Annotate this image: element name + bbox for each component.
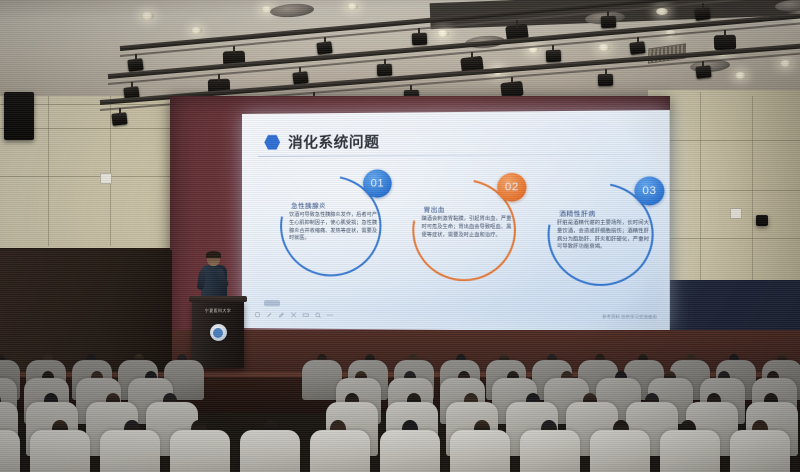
wall-panel-seam-7 bbox=[650, 190, 800, 191]
slide-item-heading-02: 胃出血 bbox=[424, 204, 445, 214]
spotlight-yoke-6 bbox=[607, 11, 609, 18]
spotlight-yoke-9 bbox=[218, 74, 220, 81]
presenter-tooltip bbox=[264, 300, 280, 306]
university-crest-logo bbox=[210, 324, 227, 341]
crest-inner bbox=[213, 328, 223, 338]
spotlight-yoke-5 bbox=[516, 20, 518, 27]
slide-footer-note: 参考资料 仅供学习交流使用 bbox=[602, 314, 657, 321]
slide-content-rings: 01 急性胰腺炎 饮酒可导致急性胰腺炎发作，后者可产生心肌抑制因子，使心肌受损；… bbox=[256, 168, 662, 290]
ceiling-downlight-11 bbox=[735, 72, 746, 79]
audience-seat-53 bbox=[520, 430, 580, 472]
spotlight-yoke-8 bbox=[131, 82, 133, 89]
spotlight-yoke-1 bbox=[135, 54, 137, 61]
audience-seat-45 bbox=[0, 430, 20, 472]
wall-panel-seam-2 bbox=[0, 176, 176, 177]
wall-outlet-plate-right bbox=[730, 208, 742, 219]
spotlight-yoke-15 bbox=[724, 30, 726, 37]
wall-panel-seam-10 bbox=[752, 96, 753, 282]
highlighter-icon[interactable] bbox=[278, 311, 285, 318]
slide-item-03: 03 酒精性肝病 肝脏是酒精代谢的主要场所，长时间大量饮酒，会造成肝细胞损伤；酒… bbox=[541, 176, 666, 290]
title-divider bbox=[258, 154, 641, 157]
hexagon-icon bbox=[264, 135, 280, 150]
step-number-badge-02: 02 bbox=[497, 173, 526, 202]
slide-item-heading-03: 酒精性肝病 bbox=[559, 208, 595, 218]
step-number-badge-03: 03 bbox=[634, 176, 664, 205]
audience-seat-56 bbox=[730, 430, 790, 472]
slide-item-01: 01 急性胰腺炎 饮酒可导致急性胰腺炎发作，后者可产生心肌抑制因子，使心肌受损；… bbox=[274, 169, 394, 280]
spotlight-yoke-12 bbox=[471, 52, 473, 59]
spotlight-yoke-14 bbox=[637, 37, 639, 44]
podium-top-surface bbox=[189, 296, 247, 302]
slide-item-heading-01: 急性胰腺炎 bbox=[291, 200, 326, 210]
wall-speaker-left bbox=[4, 92, 34, 140]
presenter-hair bbox=[206, 251, 221, 258]
ceiling-downlight-2 bbox=[191, 27, 202, 34]
more-options-icon[interactable] bbox=[326, 312, 333, 319]
presenter-toolbar[interactable] bbox=[254, 311, 334, 319]
spotlight-yoke-3 bbox=[324, 37, 326, 44]
spotlight-yoke-13 bbox=[552, 45, 554, 52]
spotlight-yoke-19 bbox=[410, 85, 412, 92]
projection-screen[interactable]: 消化系统问题 01 急性胰腺炎 饮酒可导致急性胰腺炎发作，后者可产生心肌抑制因子… bbox=[242, 110, 670, 332]
eraser-icon[interactable] bbox=[290, 311, 297, 318]
spotlight-yoke-16 bbox=[119, 108, 121, 115]
slide-thumbnails-icon[interactable] bbox=[302, 311, 309, 318]
pointer-icon[interactable] bbox=[254, 311, 261, 318]
ceiling-downlight-12 bbox=[780, 60, 791, 67]
step-number-badge-01: 01 bbox=[363, 169, 392, 197]
wall-panel-seam-4 bbox=[48, 96, 49, 246]
spotlight-yoke-10 bbox=[299, 67, 301, 74]
pen-icon[interactable] bbox=[266, 311, 273, 318]
wall-outlet-plate-left bbox=[100, 173, 112, 184]
spotlight-yoke-11 bbox=[384, 59, 386, 66]
ceiling-downlight-1 bbox=[141, 12, 154, 20]
audience-seat-50 bbox=[310, 430, 370, 472]
ceiling-downlight-4 bbox=[347, 3, 358, 10]
spotlight-yoke-21 bbox=[605, 69, 607, 76]
wall-speaker-right bbox=[756, 215, 768, 226]
slide-item-body-01: 饮酒可导致急性胰腺炎发作，后者可产生心肌抑制因子，使心肌受损；急性胰腺炎合并收缩… bbox=[289, 212, 378, 243]
wall-panel-seam-5 bbox=[110, 96, 111, 246]
spotlight-yoke-22 bbox=[702, 61, 704, 68]
slide-title-row: 消化系统问题 bbox=[264, 131, 379, 153]
zoom-icon[interactable] bbox=[314, 312, 321, 319]
audience-seat-48 bbox=[170, 430, 230, 472]
lecture-hall-photo: 消化系统问题 01 急性胰腺炎 饮酒可导致急性胰腺炎发作，后者可产生心肌抑制因子… bbox=[0, 0, 800, 472]
slide-item-body-02: 酗酒会刺激胃黏膜，引起胃出血，严重时可危及生命；胃出血会导致呕血、黑便等症状，需… bbox=[422, 216, 513, 240]
audience-seat-55 bbox=[660, 430, 720, 472]
page-title: 消化系统问题 bbox=[288, 131, 379, 153]
wall-panel-seam-8 bbox=[650, 238, 800, 239]
audience-seat-49 bbox=[240, 430, 300, 472]
audience-seat-54 bbox=[590, 430, 650, 472]
audience-seat-52 bbox=[450, 430, 510, 472]
slide-item-02: 02 胃出血 酗酒会刺激胃黏膜，引起胃出血，严重时可危及生命；胃出血会导致呕血、… bbox=[406, 173, 529, 286]
audience-seat-47 bbox=[100, 430, 160, 472]
spotlight-yoke-20 bbox=[511, 77, 513, 84]
spotlight-yoke-4 bbox=[418, 28, 420, 35]
audience-seat-51 bbox=[380, 430, 440, 472]
spotlight-yoke-7 bbox=[702, 3, 704, 10]
spotlight-yoke-2 bbox=[233, 46, 235, 53]
audience bbox=[0, 352, 800, 472]
wall-panel-seam-9 bbox=[700, 92, 701, 282]
wall-panel-seam-6 bbox=[650, 140, 800, 141]
audience-seat-46 bbox=[30, 430, 90, 472]
podium-institution-text: 宁夏医科大学 bbox=[197, 308, 239, 314]
slide-item-body-03: 肝脏是酒精代谢的主要场所，长时间大量饮酒，会造成肝细胞损伤；酒精性肝病分为脂肪肝… bbox=[557, 220, 651, 252]
